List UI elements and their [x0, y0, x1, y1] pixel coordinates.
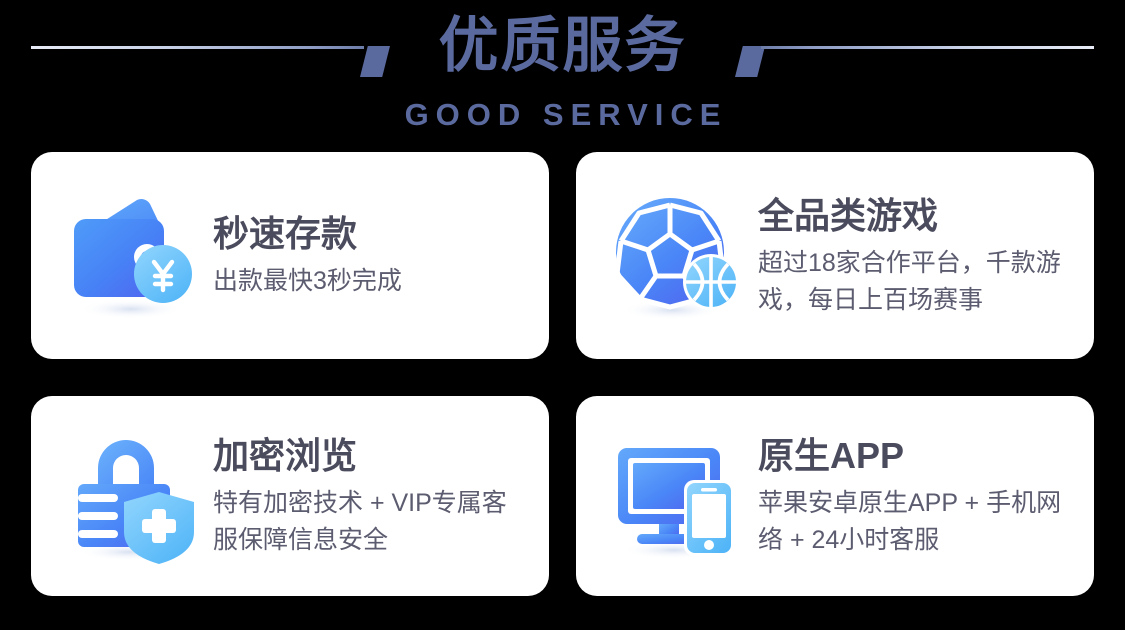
card-description: 出款最快3秒完成	[213, 263, 531, 300]
feature-card-games[interactable]: 全品类游戏 超过18家合作平台，千款游戏，每日上百场赛事	[576, 152, 1094, 359]
card-text-block: 全品类游戏 超过18家合作平台，千款游戏，每日上百场赛事	[748, 193, 1076, 319]
feature-card-encryption[interactable]: 加密浏览 特有加密技术 + VIP专属客服保障信息安全	[31, 396, 549, 596]
card-text-block: 原生APP 苹果安卓原生APP + 手机网络 + 24小时客服	[748, 433, 1076, 559]
card-title: 加密浏览	[213, 433, 531, 479]
card-text-block: 加密浏览 特有加密技术 + VIP专属客服保障信息安全	[203, 433, 531, 559]
card-description: 苹果安卓原生APP + 手机网络 + 24小时客服	[758, 485, 1076, 559]
card-description: 超过18家合作平台，千款游戏，每日上百场赛事	[758, 245, 1076, 319]
page-title: 优质服务	[0, 10, 1125, 82]
card-title: 全品类游戏	[758, 193, 1076, 239]
soccer-basketball-icon	[608, 186, 748, 326]
wallet-yen-icon	[63, 186, 203, 326]
card-title: 原生APP	[758, 433, 1076, 479]
feature-card-native-app[interactable]: 原生APP 苹果安卓原生APP + 手机网络 + 24小时客服	[576, 396, 1094, 596]
card-description: 特有加密技术 + VIP专属客服保障信息安全	[213, 485, 531, 559]
page-subtitle: GOOD SERVICE	[0, 96, 1125, 134]
feature-card-deposit[interactable]: 秒速存款 出款最快3秒完成	[31, 152, 549, 359]
page-header: 优质服务 GOOD SERVICE	[0, 0, 1125, 142]
monitor-phone-icon	[608, 426, 748, 566]
card-title: 秒速存款	[213, 211, 531, 257]
lock-shield-icon	[63, 426, 203, 566]
card-text-block: 秒速存款 出款最快3秒完成	[203, 211, 531, 300]
feature-card-grid: 秒速存款 出款最快3秒完成	[31, 152, 1094, 596]
